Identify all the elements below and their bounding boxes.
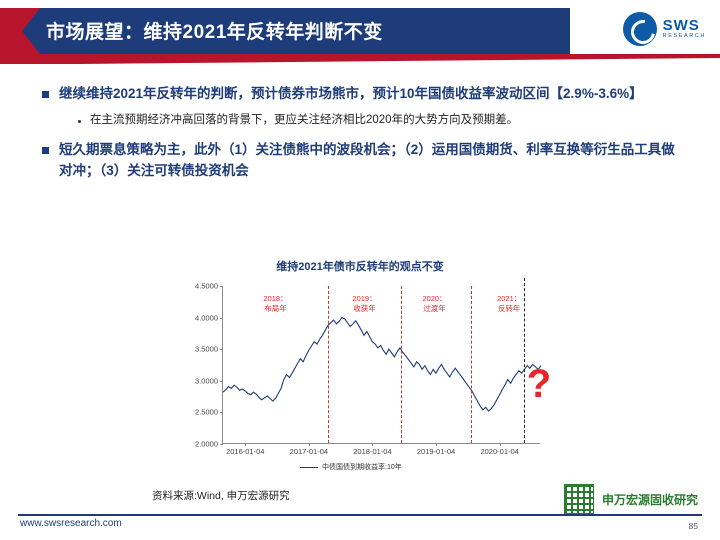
y-axis-tick-mark: [220, 286, 223, 287]
x-axis-tick-label: 2019-01-04: [417, 447, 455, 456]
chart-title: 维持2021年债市反转年的观点不变: [0, 258, 720, 274]
footer-divider: [18, 514, 702, 516]
y-axis-tick-mark: [220, 444, 223, 445]
phase-annotation-line1: 2018：: [263, 294, 287, 303]
y-axis-tick-mark: [220, 412, 223, 413]
y-axis-tick-label: 3.5000: [195, 345, 218, 354]
phase-annotation-line2: 反转年: [498, 304, 521, 313]
phase-annotation-line1: 2019：: [352, 294, 376, 303]
slide: 市场展望：维持2021年反转年判断不变 SWS RESEARCH 继续维持202…: [0, 0, 720, 540]
phase-annotation: 2021：反转年: [497, 294, 521, 314]
x-axis-tick-mark: [500, 443, 501, 446]
chart-legend: 中债国债到期收益率:10年: [300, 462, 402, 472]
sws-logo-icon: [623, 12, 657, 46]
phase-divider-line: [328, 286, 329, 443]
y-axis-tick-label: 3.0000: [195, 376, 218, 385]
footer-url[interactable]: www.swsresearch.com: [20, 518, 122, 529]
question-mark-annotation: ?: [527, 364, 551, 404]
qr-code-icon: [564, 484, 594, 514]
phase-annotation-line2: 收获年: [353, 304, 376, 313]
wechat-block: 申万宏源固收研究: [564, 484, 698, 514]
bullet-text-2: 短久期票息策略为主，此外（1）关注债熊中的波段机会；（2）运用国债期货、利率互换…: [59, 140, 682, 182]
sws-logo-subtitle: RESEARCH: [663, 34, 706, 40]
sub-bullet-item-1: 在主流预期经济冲高回落的背景下，更应关注经济相比2020年的大势方向及预期差。: [78, 111, 682, 130]
page-number: 85: [689, 521, 698, 531]
x-axis-tick-label: 2020-01-04: [480, 447, 518, 456]
x-axis-tick-label: 2016-01-04: [226, 447, 264, 456]
source-note: 资料来源:Wind, 申万宏源研究: [152, 488, 290, 503]
phase-annotation: 2018：布局年: [263, 294, 287, 314]
phase-annotation-line1: 2021：: [497, 294, 521, 303]
legend-label: 中债国债到期收益率:10年: [322, 462, 402, 472]
x-axis-tick-mark: [309, 443, 310, 446]
sws-logo: SWS RESEARCH: [623, 12, 706, 46]
bullet-text-1: 继续维持2021年反转年的判断，预计债券市场熊市，预计10年国债收益率波动区间【…: [59, 84, 643, 105]
wechat-account-name: 申万宏源固收研究: [602, 491, 698, 508]
phase-annotation-line2: 过渡年: [423, 304, 446, 313]
x-axis-tick-label: 2018-01-04: [353, 447, 391, 456]
x-axis-tick-label: 2017-01-04: [290, 447, 328, 456]
phase-annotation: 2020：过渡年: [422, 294, 446, 314]
phase-annotation: 2019：收获年: [352, 294, 376, 314]
y-axis-tick-label: 2.0000: [195, 440, 218, 449]
legend-line-swatch: [300, 467, 318, 468]
bullet-item-2: 短久期票息策略为主，此外（1）关注债熊中的波段机会；（2）运用国债期货、利率互换…: [42, 140, 682, 182]
phase-annotation-line1: 2020：: [422, 294, 446, 303]
page-title: 市场展望：维持2021年反转年判断不变: [46, 17, 383, 44]
x-axis-tick-mark: [436, 443, 437, 446]
x-axis-tick-mark: [245, 443, 246, 446]
square-bullet-icon: [42, 91, 49, 98]
forecast-divider-line: [524, 278, 525, 443]
chart-container: 2.00002.50003.00003.50004.00004.50002016…: [170, 278, 550, 473]
y-axis-tick-label: 2.5000: [195, 408, 218, 417]
x-axis-tick-mark: [372, 443, 373, 446]
dot-bullet-icon: [78, 120, 81, 123]
bullet-item-1: 继续维持2021年反转年的判断，预计债券市场熊市，预计10年国债收益率波动区间【…: [42, 84, 682, 105]
phase-annotation-line2: 布局年: [264, 304, 287, 313]
y-axis-tick-mark: [220, 381, 223, 382]
phase-divider-line: [471, 286, 472, 443]
bullet-list: 继续维持2021年反转年的判断，预计债券市场熊市，预计10年国债收益率波动区间【…: [42, 84, 682, 188]
y-axis-tick-label: 4.0000: [195, 313, 218, 322]
y-axis-tick-mark: [220, 318, 223, 319]
sub-bullet-text-1: 在主流预期经济冲高回落的背景下，更应关注经济相比2020年的大势方向及预期差。: [90, 111, 518, 130]
header-red-underline: [0, 54, 720, 64]
square-bullet-icon: [42, 147, 49, 154]
sws-logo-name: SWS: [663, 18, 706, 34]
chart-plot-area: 2.00002.50003.00003.50004.00004.50002016…: [222, 286, 540, 444]
y-axis-tick-mark: [220, 349, 223, 350]
sws-logo-text: SWS RESEARCH: [663, 18, 706, 40]
phase-divider-line: [401, 286, 402, 443]
y-axis-tick-label: 4.5000: [195, 282, 218, 291]
